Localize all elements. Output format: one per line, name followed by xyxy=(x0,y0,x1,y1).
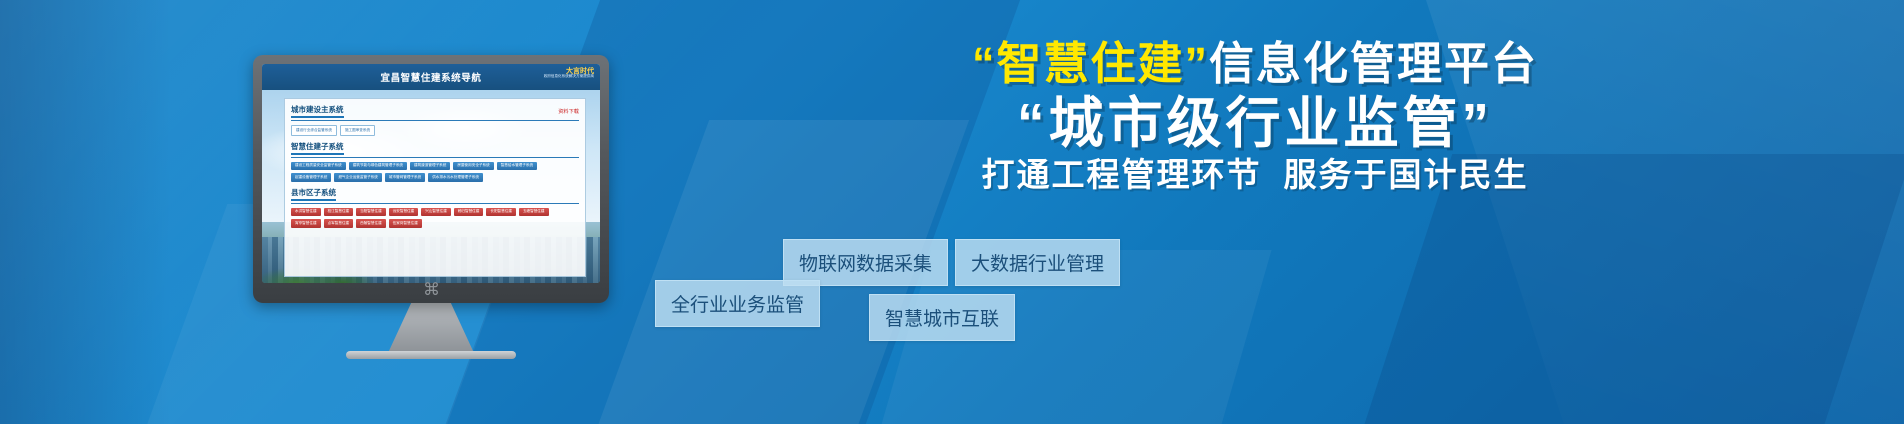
screen-title: 宜昌智慧住建系统导航 xyxy=(380,70,481,84)
download-link[interactable]: 资料下载 xyxy=(558,108,579,115)
screen-subsystem-button[interactable]: 宵亭智慧住建 xyxy=(291,219,321,228)
screen-section-title: 城市建设主系统 xyxy=(291,104,344,118)
monitor-bezel: 宜昌智慧住建系统导航 大言时代 政府信息化系统解决方案提供商 城市建设主系统资料… xyxy=(253,55,609,303)
screen-section-items: 水洪智慧住建枝江智慧住建当阳智慧住建远安智慧住建兴山智慧住建秭归智慧住建长阳智慧… xyxy=(291,208,579,228)
screen-subsystem-button[interactable]: 水洪智慧住建 xyxy=(291,208,321,217)
feature-tag-all-industry-supervision[interactable]: 全行业业务监管 xyxy=(655,280,820,327)
feature-tag-iot-data-collection[interactable]: 物联网数据采集 xyxy=(783,239,948,286)
screen-header: 宜昌智慧住建系统导航 大言时代 政府信息化系统解决方案提供商 xyxy=(262,64,600,90)
screen-subsystem-button[interactable]: 兴山智慧住建 xyxy=(421,208,451,217)
screen-subsystem-button[interactable]: 五峰智慧住建 xyxy=(519,208,549,217)
headline-accent-text: 智慧住建 xyxy=(996,38,1184,89)
monitor-screen: 宜昌智慧住建系统导航 大言时代 政府信息化系统解决方案提供商 城市建设主系统资料… xyxy=(262,64,600,283)
screen-section-header: 智慧住建子系统 xyxy=(291,141,579,158)
promo-banner: 宜昌智慧住建系统导航 大言时代 政府信息化系统解决方案提供商 城市建设主系统资料… xyxy=(0,0,1904,424)
screen-subsystem-button[interactable]: 点军智慧住建 xyxy=(324,219,354,228)
headline-line-3-part-b: 服务于国计民生 xyxy=(1284,156,1529,193)
background-shard-left xyxy=(0,0,170,424)
headline-open-quote: “ xyxy=(972,38,997,89)
screen-section-header: 县市区子系统 xyxy=(291,187,579,204)
headline-line-3-part-a: 打通工程管理环节 xyxy=(982,156,1262,193)
screen-subsystem-button[interactable]: 城市管网管理子系统 xyxy=(385,173,425,182)
screen-subsystem-button[interactable]: 建设工程质量安全监管子系统 xyxy=(291,162,346,171)
screen-section-items: 建设工程质量安全监管子系统建筑节能与绿色建筑管理子系统建筑废渣管理子系统房屋使用… xyxy=(291,162,579,182)
headline-block: “智慧住建”信息化管理平台 “城市级行业监管” 打通工程管理环节服务于国计民生 xyxy=(650,40,1860,193)
screen-subsystem-button[interactable]: 枝江智慧住建 xyxy=(324,208,354,217)
headline-line-2: “城市级行业监管” xyxy=(650,94,1860,152)
screen-subsystem-button[interactable]: 起重设备管理子系统 xyxy=(291,173,331,182)
monitor-stand-base xyxy=(346,351,516,359)
screen-subsystem-button[interactable]: 伍家岗智慧住建 xyxy=(389,219,422,228)
screen-section-title: 县市区子系统 xyxy=(291,187,336,201)
screen-subsystem-button[interactable]: 施工图审查系统 xyxy=(340,125,375,136)
monitor-stand xyxy=(388,301,474,353)
screen-subsystem-button[interactable]: 燃气企业运营监管子系统 xyxy=(334,173,382,182)
screen-navigation-panel: 城市建设主系统资料下载建设行业综合监管系统施工图审查系统智慧住建子系统建设工程质… xyxy=(284,98,586,277)
screen-subsystem-button[interactable]: 远安智慧住建 xyxy=(389,208,419,217)
screen-subsystem-button[interactable]: 当阳智慧住建 xyxy=(356,208,386,217)
screen-logo-sub: 政府信息化系统解决方案提供商 xyxy=(544,75,594,79)
screen-subsystem-button[interactable]: 建设行业综合监管系统 xyxy=(291,125,337,136)
screen-subsystem-button[interactable]: 建筑废渣管理子系统 xyxy=(410,162,450,171)
headline-close-quote: ” xyxy=(1185,38,1210,89)
screen-sections: 城市建设主系统资料下载建设行业综合监管系统施工图审查系统智慧住建子系统建设工程质… xyxy=(291,104,579,228)
screen-subsystem-button[interactable]: 建筑节能与绿色建筑管理子系统 xyxy=(349,162,407,171)
apple-logo-icon: ⌘ xyxy=(423,281,439,299)
headline-line-3: 打通工程管理环节服务于国计民生 xyxy=(650,158,1860,193)
screen-subsystem-button[interactable]: 智慧给水管理子系统 xyxy=(497,162,537,171)
background-shard-e xyxy=(1316,154,1904,424)
screen-subsystem-button[interactable]: 秭归智慧住建 xyxy=(454,208,484,217)
screen-logo: 大言时代 政府信息化系统解决方案提供商 xyxy=(544,68,594,79)
screen-subsystem-button[interactable]: 供水排水污水处理管理子系统 xyxy=(428,173,483,182)
headline-line-1-rest: 信息化管理平台 xyxy=(1209,38,1538,89)
screen-section-items: 建设行业综合监管系统施工图审查系统 xyxy=(291,125,579,136)
screen-subsystem-button[interactable]: 长阳智慧住建 xyxy=(486,208,516,217)
monitor-mockup: 宜昌智慧住建系统导航 大言时代 政府信息化系统解决方案提供商 城市建设主系统资料… xyxy=(253,55,609,303)
screen-subsystem-button[interactable]: 西陵智慧住建 xyxy=(356,219,386,228)
feature-tag-smart-city-interconnect[interactable]: 智慧城市互联 xyxy=(869,294,1015,341)
feature-tag-bigdata-industry-management[interactable]: 大数据行业管理 xyxy=(955,239,1120,286)
headline-line-1: “智慧住建”信息化管理平台 xyxy=(650,40,1860,88)
screen-subsystem-button[interactable]: 房屋使用安全子系统 xyxy=(453,162,493,171)
screen-section-title: 智慧住建子系统 xyxy=(291,141,344,155)
screen-section-header: 城市建设主系统资料下载 xyxy=(291,104,579,121)
